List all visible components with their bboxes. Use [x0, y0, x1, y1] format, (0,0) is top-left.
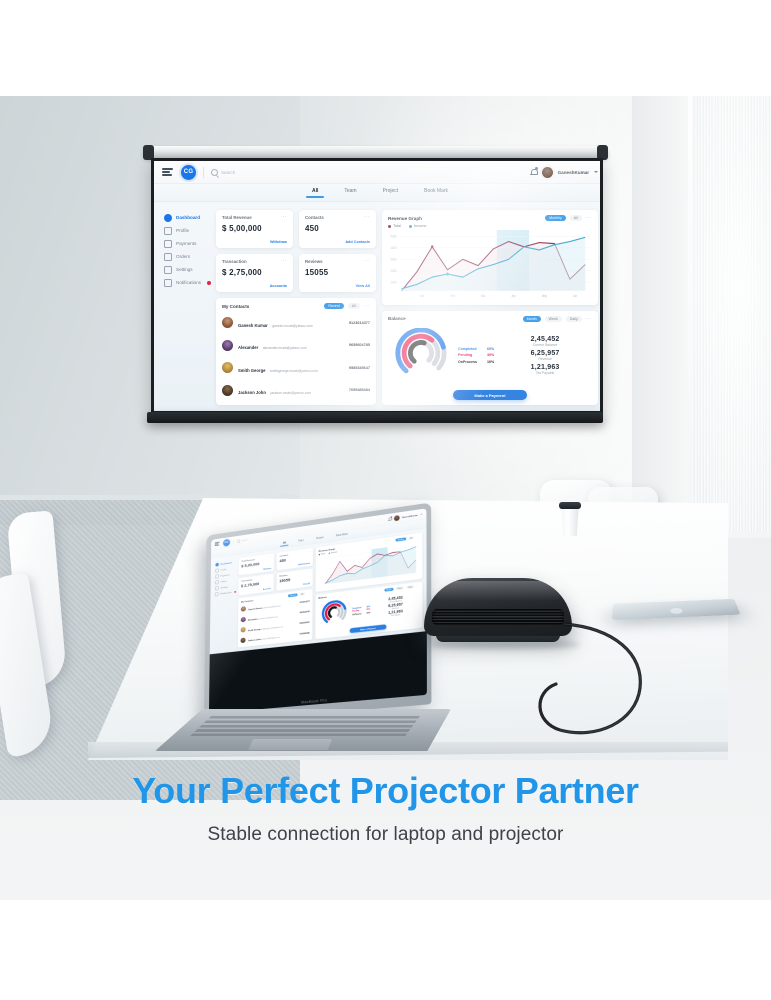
dashboard-main: Total Revenue ··· $ 5,00,000 Withdraw [216, 202, 600, 411]
contact-email: ganesh.mcab@yahoo.com [272, 324, 312, 328]
more-icon[interactable]: ··· [586, 216, 592, 220]
svg-text:Apr: Apr [512, 294, 516, 298]
contact-phone: 9123614377 [349, 321, 370, 325]
hamburger-menu-icon[interactable] [215, 542, 220, 546]
coffee-cup [559, 500, 581, 536]
svg-text:4000: 4000 [391, 246, 397, 250]
contact-name: Alexander [238, 345, 258, 350]
product-marketing-scene: CG Search GaneshKumar [0, 0, 771, 1000]
search-input[interactable]: Search [211, 169, 530, 176]
avatar[interactable] [394, 515, 400, 521]
figure-label: Revenue [498, 357, 592, 361]
topbar-right-group: GaneshKumar [530, 167, 598, 178]
svg-text:Feb: Feb [450, 294, 455, 298]
figure-current-balance: 2,45,452 Current Balance [498, 336, 592, 347]
balance-card: Balance MonthWeekDaily··· [315, 581, 422, 639]
top-white-margin [0, 0, 771, 96]
left-column: Total Revenue ··· $ 5,00,000 Withdraw [216, 210, 376, 405]
app-logo[interactable]: CG [181, 165, 196, 180]
laptop-dashboard-mirror: CG Search GaneshKumar [210, 508, 427, 653]
stat-title: Total Revenue [222, 215, 252, 220]
search-placeholder: Search [241, 538, 247, 541]
revenue-graph-legend: Total Income [388, 224, 592, 228]
chevron-down-icon[interactable] [594, 171, 598, 173]
sidebar-item-label: Notifications [176, 280, 201, 285]
contacts-filter-recent[interactable]: Recent [324, 303, 343, 309]
username-label: GaneshKumar [402, 514, 418, 519]
screen-frame: CG Search GaneshKumar [151, 158, 603, 414]
avatar [222, 385, 233, 396]
laptop-brand-label: MacBook Pro [209, 689, 427, 712]
stat-value: $ 2,75,000 [222, 268, 287, 277]
legend-label: Income [414, 224, 426, 228]
avatar [222, 362, 233, 373]
contact-row[interactable]: Jackson John jackson.mcab@yahoo.com 7655… [222, 381, 370, 399]
sidebar-item-orders[interactable]: Orders [164, 250, 216, 263]
sidebar-item-label: Settings [176, 267, 193, 272]
chevron-down-icon[interactable] [420, 514, 422, 515]
stat-card-reviews[interactable]: Reviews··· 15055 View All [276, 568, 312, 590]
gear-icon [164, 266, 172, 274]
tab-project[interactable]: Project [383, 188, 399, 198]
svg-text:Jan: Jan [420, 294, 425, 298]
legend-value: 10% [487, 360, 494, 364]
figure-value: 2,45,452 [498, 336, 592, 343]
balance-legend: Completed60% Pending30% OnProcess10% [458, 347, 494, 364]
svg-text:2000: 2000 [391, 269, 397, 273]
stat-value: 450 [305, 224, 370, 233]
cup-lid [559, 502, 581, 509]
stat-value: $ 5,00,000 [222, 224, 287, 233]
stat-row-top: Total Revenue ··· $ 5,00,000 Withdraw [216, 210, 376, 248]
contacts-card: My Contacts RecentAll··· Ganesh Kumargan… [238, 589, 313, 648]
figure-value: 1,21,963 [498, 364, 592, 371]
tab-team[interactable]: Team [298, 539, 304, 544]
projection-screen: CG Search GaneshKumar [137, 146, 614, 431]
revenue-graph-title: Revenue Graph [388, 216, 422, 221]
tab-all[interactable]: All [283, 541, 286, 546]
svg-text:Mar: Mar [481, 294, 486, 298]
contacts-title: My Contacts [222, 304, 249, 309]
tab-team[interactable]: Team [344, 188, 356, 198]
macbook-pro-laptop: CG Search GaneshKumar [122, 533, 440, 761]
svg-text:5000: 5000 [391, 234, 397, 238]
tab-book-mark[interactable]: Book Mark [336, 532, 348, 538]
contact-name: Jackson John [238, 390, 266, 395]
avatar[interactable] [542, 167, 553, 178]
make-a-payment-button[interactable]: Make a Payment [453, 390, 527, 400]
figure-label: Current Balance [498, 343, 592, 347]
sidebar-item-notifications[interactable]: Notifications [164, 276, 216, 289]
orders-icon [164, 253, 172, 261]
legend-label: Total [393, 224, 401, 228]
sidebar: Dashboard Profile Payments [154, 202, 216, 411]
laptop-keyboard [188, 716, 420, 738]
svg-text:1000: 1000 [391, 280, 397, 284]
legend-label: OnProcess [458, 360, 484, 364]
svg-text:Jun: Jun [573, 294, 578, 298]
tab-project[interactable]: Project [316, 536, 323, 542]
balance-title: Balance [388, 316, 406, 321]
stat-row-bottom: Transaction ··· $ 2,75,000 Accounts [216, 254, 376, 292]
cup-body [560, 506, 580, 536]
stat-link[interactable]: View All [356, 284, 370, 288]
subheadline: Stable connection for laptop and project… [0, 824, 771, 846]
laptop-lid: CG Search GaneshKumar [204, 502, 431, 723]
graph-filter-all[interactable]: All [570, 215, 582, 221]
notification-bell-icon[interactable] [388, 517, 392, 521]
app-logo[interactable]: CG [223, 539, 230, 547]
laptop-trackpad[interactable] [248, 739, 332, 750]
sidebar-item-label: Dashboard [176, 215, 200, 220]
contact-email: jackson.mcab@yahoo.com [270, 391, 311, 395]
balance-card: Balance Month Week Daily ··· [382, 311, 598, 406]
stat-link[interactable]: Add Contacts [345, 240, 370, 244]
more-icon[interactable]: ··· [364, 259, 370, 263]
bottom-white-margin [0, 900, 771, 1000]
sidebar-item-label: Orders [176, 254, 190, 259]
hamburger-menu-icon[interactable] [162, 168, 173, 176]
tab-book-mark[interactable]: Book Mark [424, 188, 448, 198]
search-icon [237, 539, 240, 543]
stat-link[interactable]: Accounts [270, 284, 287, 288]
sidebar-item-label: Payments [176, 241, 196, 246]
sidebar-item-label: Profile [176, 228, 189, 233]
figure-revenue: 6,25,957 Revenue [498, 350, 592, 361]
dashboard-topbar: CG Search GaneshKumar [154, 161, 600, 184]
svg-text:May: May [542, 294, 548, 298]
figure-label: Tax Payable [498, 371, 592, 375]
screen-surface: CG Search GaneshKumar [154, 161, 600, 411]
projector-highlight [434, 581, 562, 601]
window-glow [680, 70, 771, 550]
stat-card-transaction[interactable]: Transaction··· $ 2,75,000 Accounts [238, 574, 273, 596]
stat-title: Contacts [305, 215, 324, 220]
screen-weighted-bar [147, 412, 603, 423]
right-column: Revenue Graph Monthly All ··· Tota [382, 210, 598, 405]
contact-name: Smith George [238, 368, 265, 373]
notifications-icon [164, 279, 172, 287]
payments-icon [164, 240, 172, 248]
balance-figures: 2,45,452 Current Balance 6,25,957 Revenu… [498, 336, 592, 375]
laptop-screen: CG Search GaneshKumar [209, 508, 427, 713]
sidebar-item-settings[interactable]: Settings [164, 263, 216, 276]
figure-value: 6,25,957 [498, 350, 592, 357]
stat-card-total-revenue[interactable]: Total Revenue··· $ 5,00,000 Withdraw [239, 553, 274, 575]
more-icon[interactable]: ··· [586, 317, 592, 321]
balance-filter-month[interactable]: Month [523, 316, 541, 322]
stat-card-total-revenue[interactable]: Total Revenue ··· $ 5,00,000 Withdraw [216, 210, 293, 248]
notification-bell-icon[interactable] [530, 168, 537, 176]
contact-phone: 9655604785 [349, 343, 370, 347]
contact-phone: 9585345647 [349, 366, 370, 370]
more-icon[interactable]: ··· [364, 215, 370, 219]
stat-card-contacts[interactable]: Contacts ··· 450 Add Contacts [299, 210, 376, 248]
dashboard-tabs: All Team Project Book Mark [154, 184, 600, 202]
legend-value: 30% [487, 353, 494, 357]
contact-row[interactable]: Alexander alexander.mcab@yahoo.com 96556… [222, 336, 370, 354]
marketing-text: Your Perfect Projector Partner Stable co… [0, 770, 771, 846]
contact-name: Ganesh Kumar [238, 323, 268, 328]
figure-tax-payable: 1,21,963 Tax Payable [498, 364, 592, 375]
contacts-filter-all[interactable]: All [348, 303, 360, 309]
hdmi-cable [540, 618, 770, 768]
more-icon[interactable]: ··· [364, 304, 370, 308]
balance-filter-week[interactable]: Week [545, 316, 562, 322]
stat-card-transaction[interactable]: Transaction ··· $ 2,75,000 Accounts [216, 254, 293, 292]
stat-title: Reviews [305, 259, 323, 264]
stat-card-contacts[interactable]: Contacts··· 450 Add Contacts [277, 548, 313, 571]
contact-email: alexander.mcab@yahoo.com [263, 346, 307, 350]
svg-text:3000: 3000 [391, 257, 397, 261]
balance-radial-chart [388, 328, 454, 382]
projected-dashboard: CG Search GaneshKumar [154, 161, 600, 411]
contacts-card: My Contacts Recent All ··· [216, 298, 376, 405]
headline: Your Perfect Projector Partner [0, 770, 771, 812]
revenue-graph-plot: 50004000 30002000 1000 [388, 230, 592, 299]
more-icon[interactable]: ··· [281, 215, 287, 219]
more-icon[interactable]: ··· [281, 259, 287, 263]
legend-label: Pending [458, 353, 484, 357]
revenue-graph-card: Revenue Graph Monthly All ··· Tota [382, 210, 598, 305]
graph-filter-monthly[interactable]: Monthly [545, 215, 566, 221]
balance-filter-daily[interactable]: Daily [566, 316, 582, 322]
avatar [222, 317, 233, 328]
contact-row[interactable]: Ganesh Kumar ganesh.mcab@yahoo.com 91236… [222, 314, 370, 332]
search-icon [211, 169, 218, 176]
dashboard-body: Dashboard Profile Payments [154, 202, 600, 411]
legend-item-income: Income [409, 224, 426, 228]
avatar [222, 340, 233, 351]
sidebar-item-payments[interactable]: Payments [164, 237, 216, 250]
legend-value: 60% [487, 347, 494, 351]
tab-all[interactable]: All [312, 188, 318, 198]
legend-item-total: Total [388, 224, 401, 228]
status-badge [207, 281, 211, 285]
sidebar-item-profile[interactable]: Profile [164, 224, 216, 237]
dashboard-icon [164, 214, 172, 222]
search-placeholder: Search [221, 170, 235, 175]
stat-value: 15055 [305, 268, 370, 277]
stat-card-reviews[interactable]: Reviews ··· 15055 View All [299, 254, 376, 292]
profile-icon [164, 227, 172, 235]
topbar-divider [203, 167, 204, 178]
stat-link[interactable]: Withdraw [270, 240, 287, 244]
contact-row[interactable]: Smith George smithgeorge.mcab@yahoo.com … [222, 359, 370, 377]
username-label: GaneshKumar [558, 170, 589, 175]
stat-title: Transaction [222, 259, 247, 264]
sidebar-item-dashboard[interactable]: Dashboard [164, 211, 216, 224]
contact-phone: 7655485484 [349, 388, 370, 392]
legend-label: Completed [458, 347, 484, 351]
contact-email: smithgeorge.mcab@yahoo.com [270, 369, 318, 373]
